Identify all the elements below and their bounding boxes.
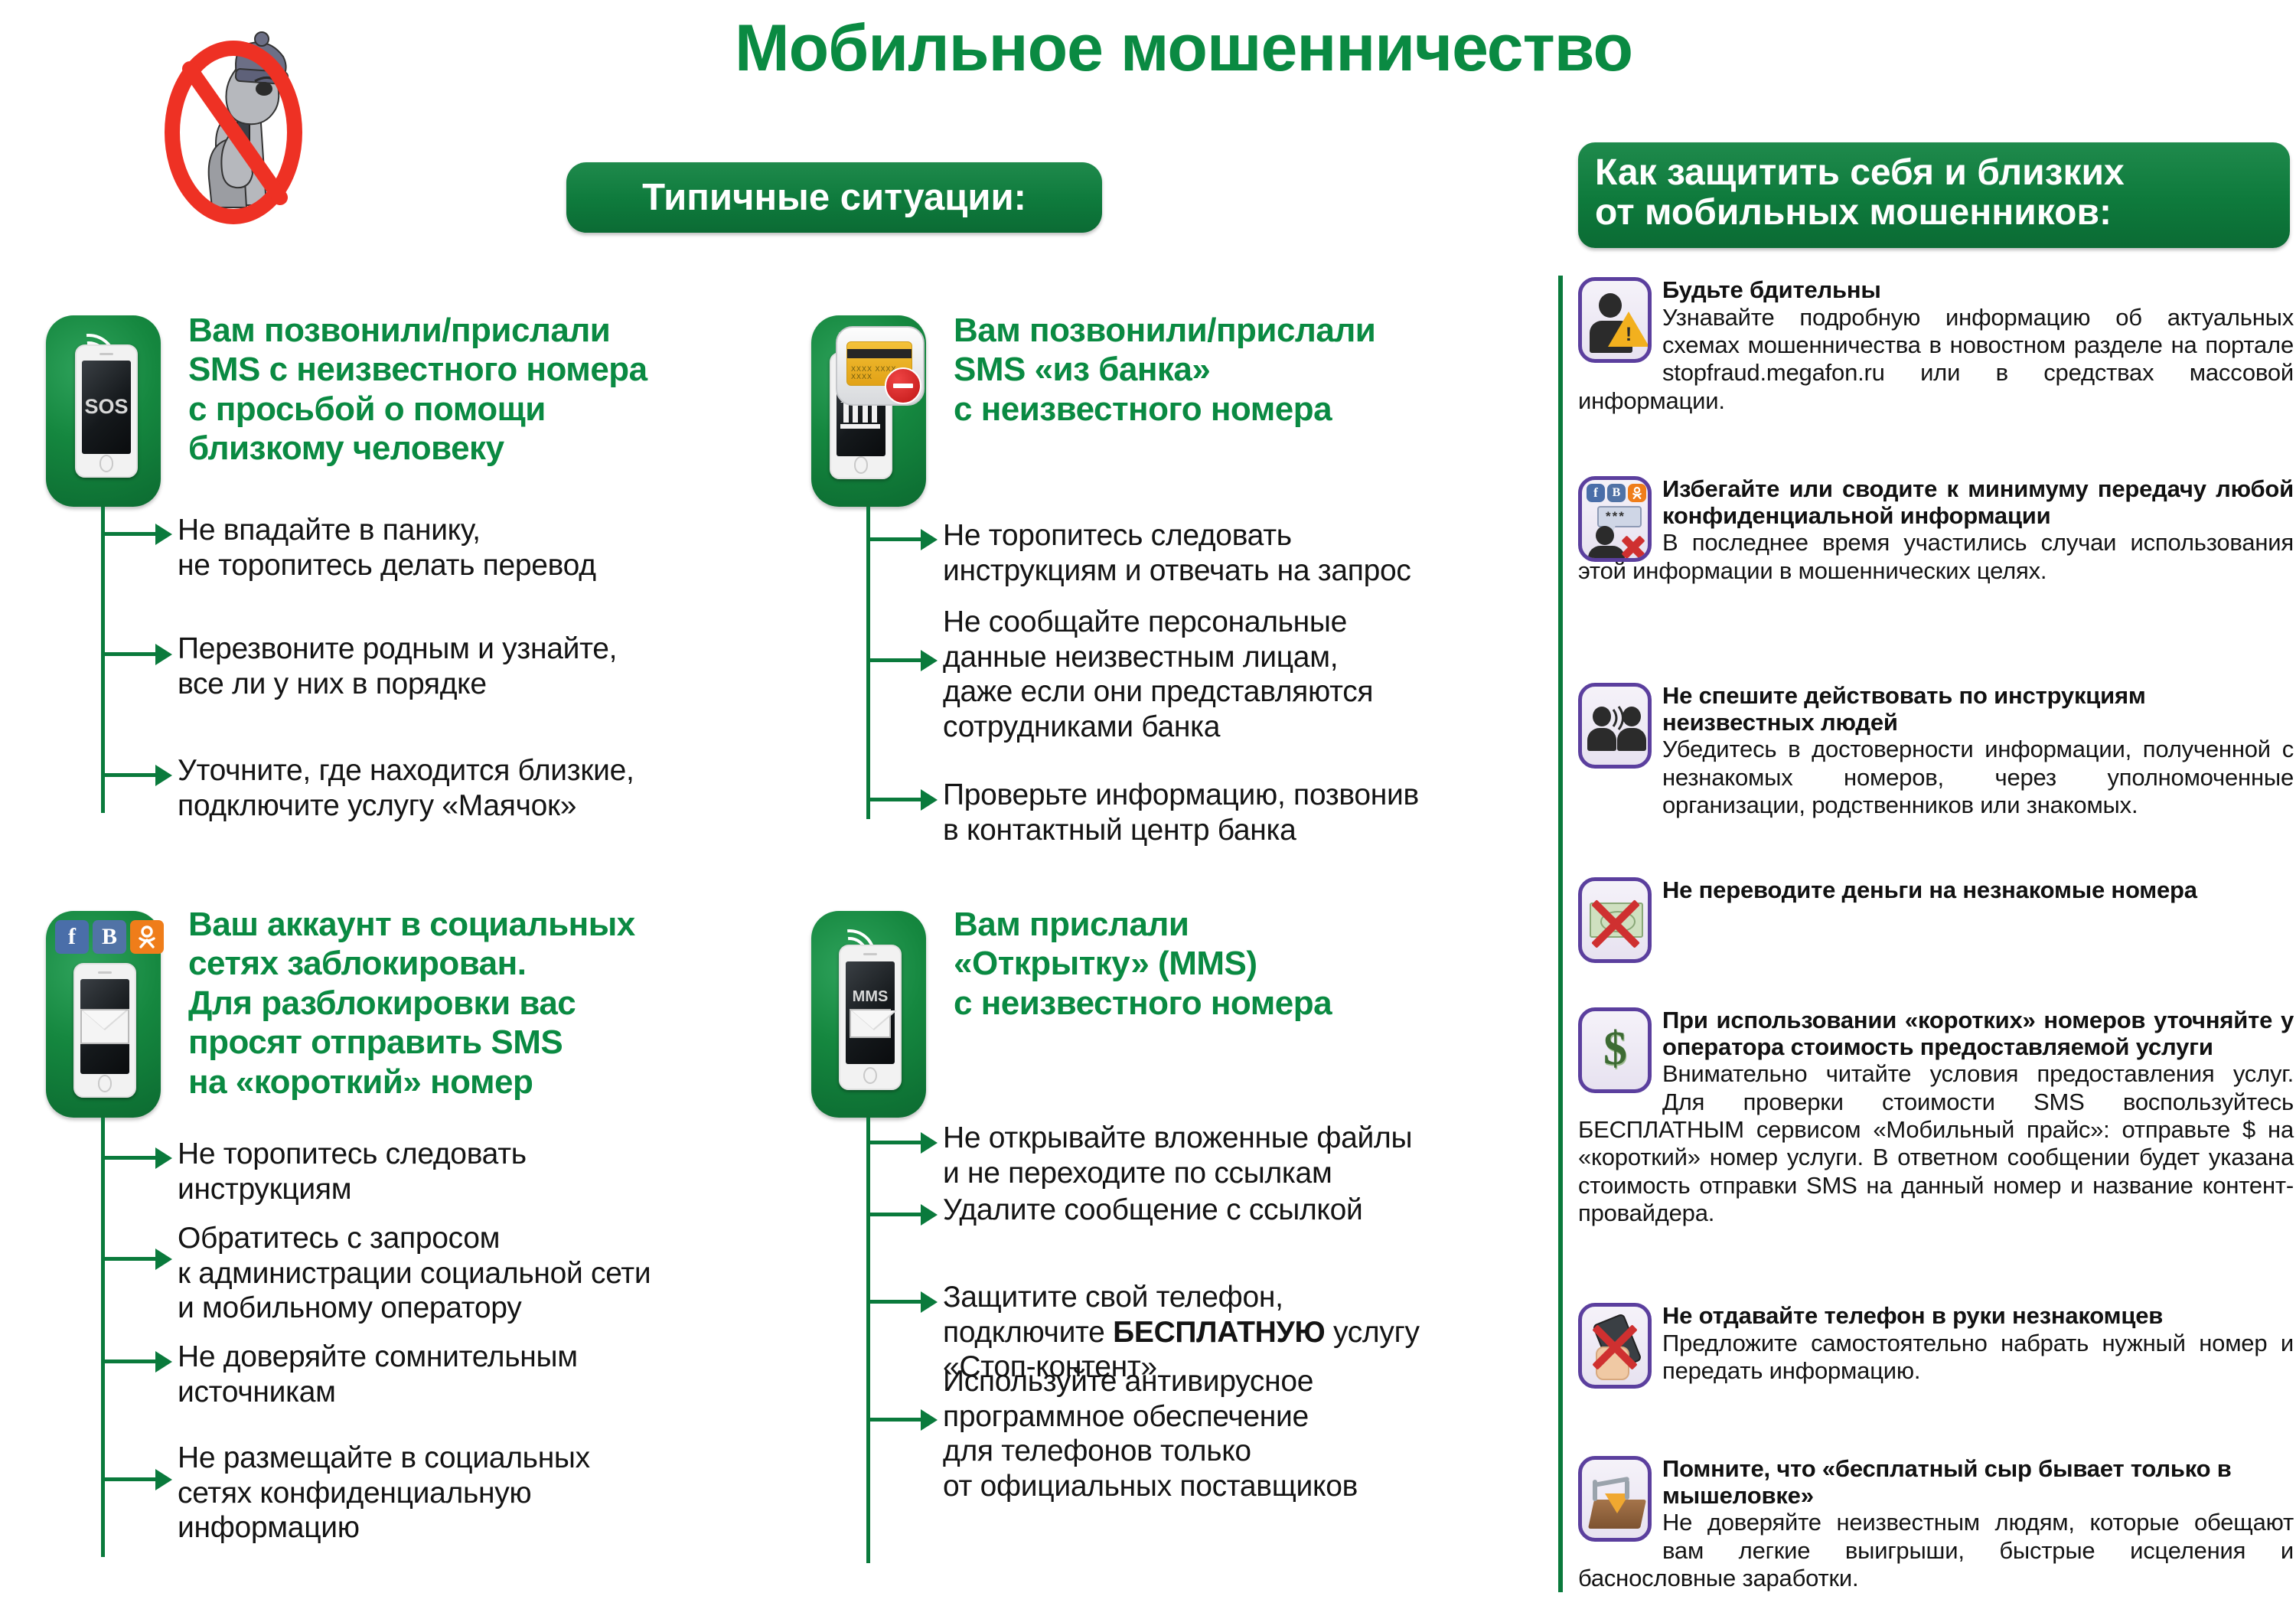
tip-text: Уточните, где находится близкие, подключ… <box>178 753 759 823</box>
connector-stem <box>866 507 870 819</box>
advice-title: Будьте бдительны <box>1578 277 2294 304</box>
advice-avoid-sharing: f B *** Избегайте или сводите к минимуму… <box>1578 476 2294 585</box>
connector-arrow <box>105 1360 157 1363</box>
advice-text: Внимательно читайте условия предоставлен… <box>1578 1060 2294 1227</box>
infographic-page: Мобильное мошенничество Типичные ситуаци… <box>0 0 2296 1606</box>
connector-arrow <box>870 658 922 662</box>
tip-text: Не впадайте в панику, не торопитесь дела… <box>178 513 759 583</box>
tip-text: Удалите сообщение с ссылкой <box>943 1193 1578 1228</box>
phone-screen-label: SOS <box>84 395 128 419</box>
connector-arrow <box>105 1257 157 1261</box>
tip-text: Перезвоните родным и узнайте, все ли у н… <box>178 632 759 701</box>
red-cross-icon <box>1587 1319 1643 1368</box>
phone-bank-card-icon: XXXX XXXX XXXX <box>811 315 926 507</box>
tip-text: Проверьте информацию, позвонив в контакт… <box>943 778 1570 847</box>
advice-text: В последнее время участились случаи испо… <box>1578 529 2294 585</box>
tip-text: Используйте антивирусное программное обе… <box>943 1364 1578 1504</box>
phone-in-hand-crossed-icon <box>1578 1303 1652 1389</box>
tip-text: Не размещайте в социальных сетях конфиде… <box>178 1441 775 1546</box>
envelope-icon <box>850 1009 891 1038</box>
situation-title: Вам позвонили/прислали SMS с неизвестног… <box>188 311 770 468</box>
connector-arrow <box>870 1141 922 1144</box>
social-chips: f B <box>55 920 164 954</box>
advice-title: Не переводите деньги на незнакомые номер… <box>1578 877 2294 904</box>
two-people-talking-icon <box>1578 683 1652 769</box>
advice-title: Избегайте или сводите к минимуму передач… <box>1578 476 2294 529</box>
phone-social-icon: f B <box>46 911 161 1118</box>
social-private-data-icon: f B *** <box>1578 476 1652 562</box>
connector-stem <box>101 507 105 813</box>
tip-text: Не торопитесь следовать инструкциям <box>178 1137 775 1206</box>
warning-triangle-icon <box>1608 312 1649 347</box>
advice-text: Предложите самостоятельно набрать нужный… <box>1578 1330 2294 1386</box>
advice-dont-transfer-money: Не переводите деньги на незнакомые номер… <box>1578 877 2294 904</box>
protect-banner-line1: Как защитить себя и близких <box>1595 153 2276 193</box>
phone-graphic: MMS <box>839 945 902 1090</box>
connector-arrow <box>105 532 157 536</box>
connector-arrow <box>870 1213 922 1216</box>
envelope-icon <box>80 1009 129 1044</box>
bank-card-bubble-icon: XXXX XXXX XXXX <box>836 326 925 406</box>
situation-title: Вам позвонили/прислали SMS «из банка» с … <box>954 311 1551 429</box>
protect-banner-line2: от мобильных мошенников: <box>1595 193 2276 233</box>
person-warning-icon <box>1578 277 1652 363</box>
facebook-icon: f <box>55 920 89 954</box>
connector-arrow <box>105 1477 157 1481</box>
page-title: Мобильное мошенничество <box>735 15 1577 81</box>
red-cross-icon <box>1585 896 1646 944</box>
phone-screen-label: MMS <box>853 988 889 1006</box>
red-cross-icon <box>1620 532 1646 555</box>
advice-be-vigilant: Будьте бдительны Узнавайте подробную инф… <box>1578 277 2294 415</box>
situation-title: Ваш аккаунт в социальных сетях заблокиро… <box>188 905 770 1102</box>
tip-text: Не торопитесь следовать инструкциям и от… <box>943 518 1555 588</box>
vk-icon: B <box>93 920 126 954</box>
phone-mms-icon: MMS <box>811 911 926 1118</box>
dollar-icon: $ <box>1578 1007 1652 1093</box>
connector-arrow <box>870 798 922 801</box>
phone-graphic <box>73 963 136 1098</box>
phone-graphic: SOS <box>75 344 138 478</box>
tip-text: Обратитесь с запросом к администрации со… <box>178 1221 805 1326</box>
advice-text: Не доверяйте неизвестным людям, которые … <box>1578 1509 2294 1592</box>
advice-text: Узнавайте подробную информацию об актуал… <box>1578 304 2294 415</box>
no-fraud-logo <box>145 14 329 228</box>
advice-free-cheese: Помните, что «бесплатный сыр бывает толь… <box>1578 1456 2294 1592</box>
advice-dont-give-phone: Не отдавайте телефон в руки незнакомцев … <box>1578 1303 2294 1385</box>
situations-banner: Типичные ситуации: <box>566 162 1102 233</box>
tip-text: Не открывайте вложенные файлы и не перех… <box>943 1121 1578 1190</box>
odnoklassniki-icon <box>130 920 164 954</box>
advice-title: Не отдавайте телефон в руки незнакомцев <box>1578 1303 2294 1330</box>
sound-waves-icon <box>1609 705 1625 731</box>
connector-arrow <box>105 652 157 656</box>
advice-text: Убедитесь в достоверности информации, по… <box>1578 736 2294 819</box>
connector-arrow <box>870 1418 922 1422</box>
no-entry-icon <box>885 367 921 404</box>
connector-stem <box>101 1118 105 1557</box>
protect-banner: Как защитить себя и близких от мобильных… <box>1578 142 2290 248</box>
connector-arrow <box>870 1300 922 1304</box>
mousetrap-icon <box>1578 1456 1652 1542</box>
advice-title: При использовании «коротких» номеров уто… <box>1578 1007 2294 1060</box>
advice-check-short-numbers: $ При использовании «коротких» номеров у… <box>1578 1007 2294 1227</box>
connector-arrow <box>105 773 157 777</box>
money-crossed-icon <box>1578 877 1652 963</box>
tip-text: Не доверяйте сомнительным источникам <box>178 1340 775 1409</box>
connector-arrow <box>870 537 922 541</box>
phone-sos-icon: SOS <box>46 315 161 507</box>
connector-arrow <box>105 1156 157 1160</box>
advice-title: Не спешите действовать по инструкциям не… <box>1578 683 2294 736</box>
advice-title: Помните, что «бесплатный сыр бывает толь… <box>1578 1456 2294 1509</box>
situation-title: Вам прислали «Открытку» (MMS) с неизвест… <box>954 905 1566 1023</box>
tip-text: Не сообщайте персональные данные неизвес… <box>943 605 1555 745</box>
connector-stem <box>866 1118 870 1563</box>
advice-dont-rush: Не спешите действовать по инструкциям не… <box>1578 683 2294 819</box>
password-bubble-icon: *** <box>1597 506 1642 527</box>
